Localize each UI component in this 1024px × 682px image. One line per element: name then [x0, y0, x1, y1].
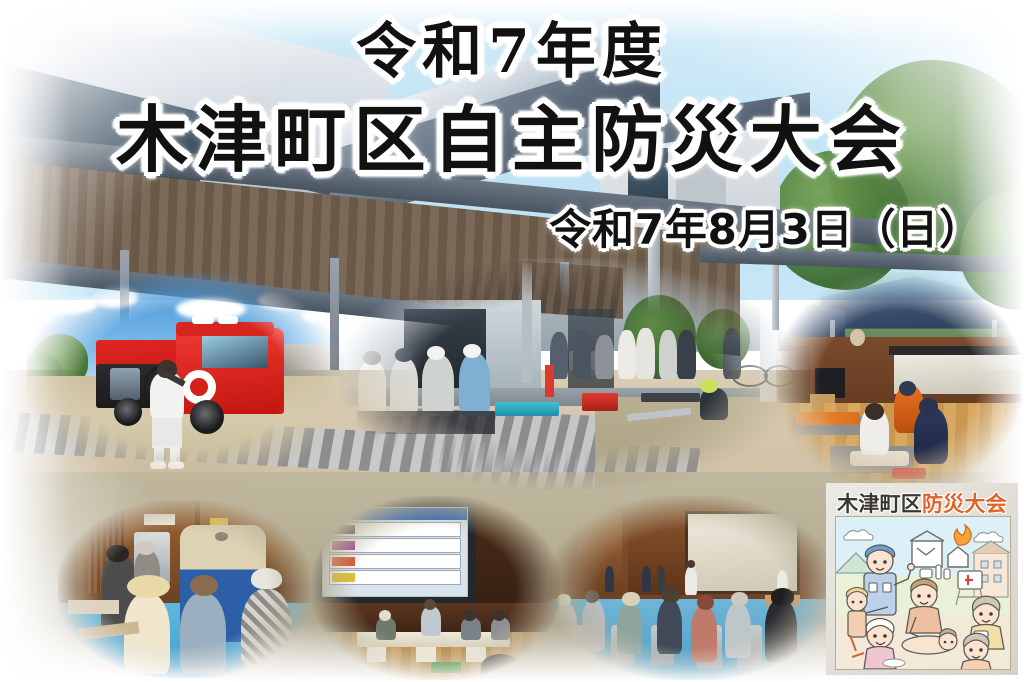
illustration-event-label: 防災大会 [922, 491, 1007, 516]
illustration-area-label: 木津町区 [837, 491, 922, 516]
illustration-scene [835, 516, 1011, 670]
presentation-slide-photo [312, 496, 560, 680]
poster-canvas: 木津町区防災大会 [0, 0, 1024, 682]
illustration-svg [836, 517, 1010, 669]
event-date: 令和7年8月3日（日） [549, 196, 982, 257]
illustration-panel: 木津町区防災大会 [826, 483, 1018, 675]
illustration-title: 木津町区防災大会 [826, 488, 1018, 518]
cpr-training-photo [776, 272, 1022, 490]
community-crowd-photo [340, 258, 796, 490]
fire-engine-photo [26, 272, 344, 488]
emergency-tent-photo [58, 500, 312, 678]
audience-hall-photo [548, 496, 834, 680]
